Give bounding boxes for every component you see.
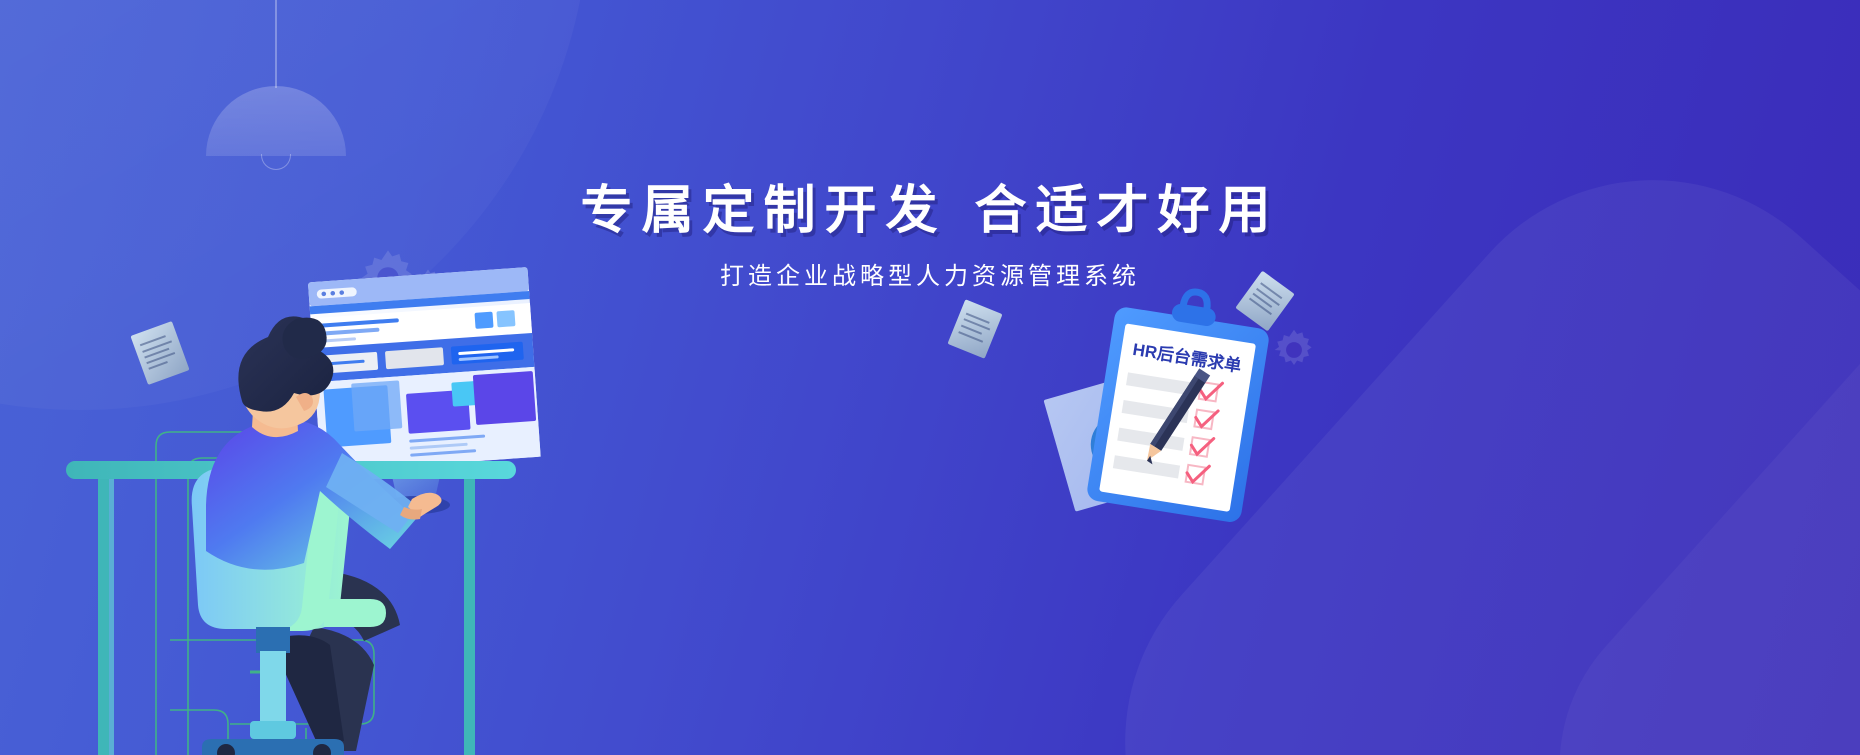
clipboard: HR后台需求单 xyxy=(1086,280,1275,524)
hanging-lamp-icon xyxy=(206,0,346,170)
headline-part-1: 专属定制开发 xyxy=(580,182,946,240)
floating-document-icon xyxy=(947,299,1002,358)
lamp-bulb xyxy=(261,154,291,170)
page-subtitle: 打造企业战略型人力资源管理系统 xyxy=(0,256,1860,291)
hr-clipboard-illustration: HR后台需求单 xyxy=(1000,285,1290,525)
browser-window-mockup xyxy=(308,267,541,472)
document-sheet xyxy=(947,299,1002,358)
page-title: 专属定制开发合适才好用 xyxy=(0,182,1860,242)
lamp-shade xyxy=(206,86,346,156)
developer-at-desk-illustration xyxy=(60,255,540,755)
hero-banner: HR后台需求单 xyxy=(0,0,1860,755)
banner-text-block: 专属定制开发合适才好用 打造企业战略型人力资源管理系统 xyxy=(0,182,1860,291)
lamp-cord xyxy=(275,0,277,88)
headline-part-2: 合适才好用 xyxy=(975,182,1280,240)
